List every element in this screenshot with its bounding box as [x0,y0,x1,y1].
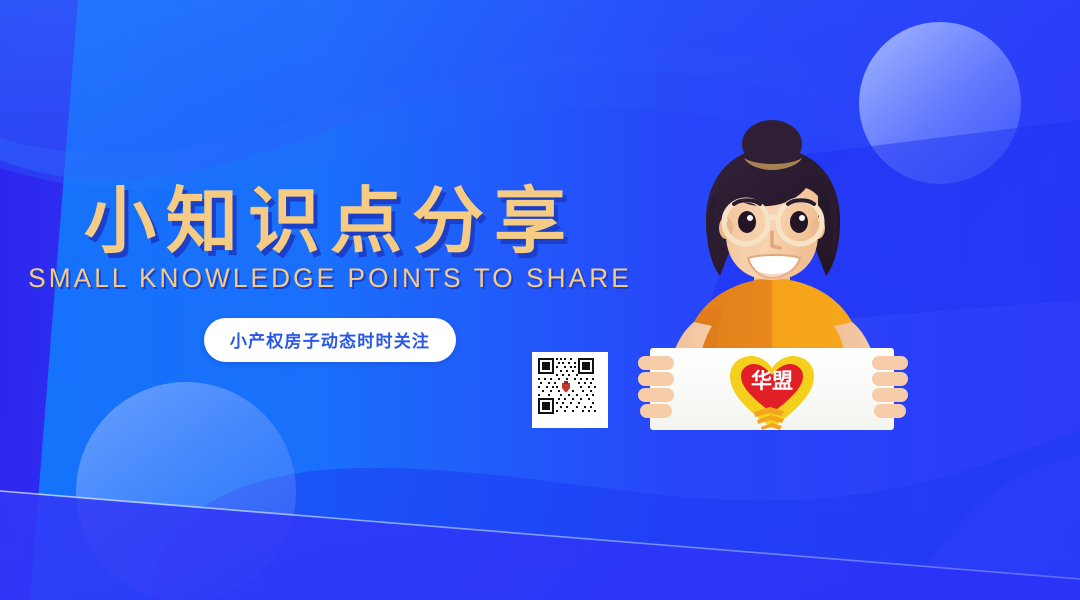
page-subtitle: SMALL KNOWLEDGE POINTS TO SHARE [10,263,650,294]
page-title: 小知识点分享 [0,185,660,257]
logo-text: 华盟 [751,369,793,393]
hair-bun [742,120,802,168]
woman-holding-sign-illustration: 华盟 [620,130,940,450]
tagline-pill[interactable]: 小产权房子动态时时关注 [204,318,456,362]
eye-highlight-right [799,215,805,221]
eye-right [790,211,808,233]
eye-left [738,211,756,233]
eye-highlight-left [747,215,753,221]
qr-code-icon[interactable] [532,352,608,428]
headline-block: 小知识点分享 SMALL KNOWLEDGE POINTS TO SHARE 小… [0,185,660,362]
poster-canvas: 小知识点分享 SMALL KNOWLEDGE POINTS TO SHARE 小… [0,0,1080,600]
